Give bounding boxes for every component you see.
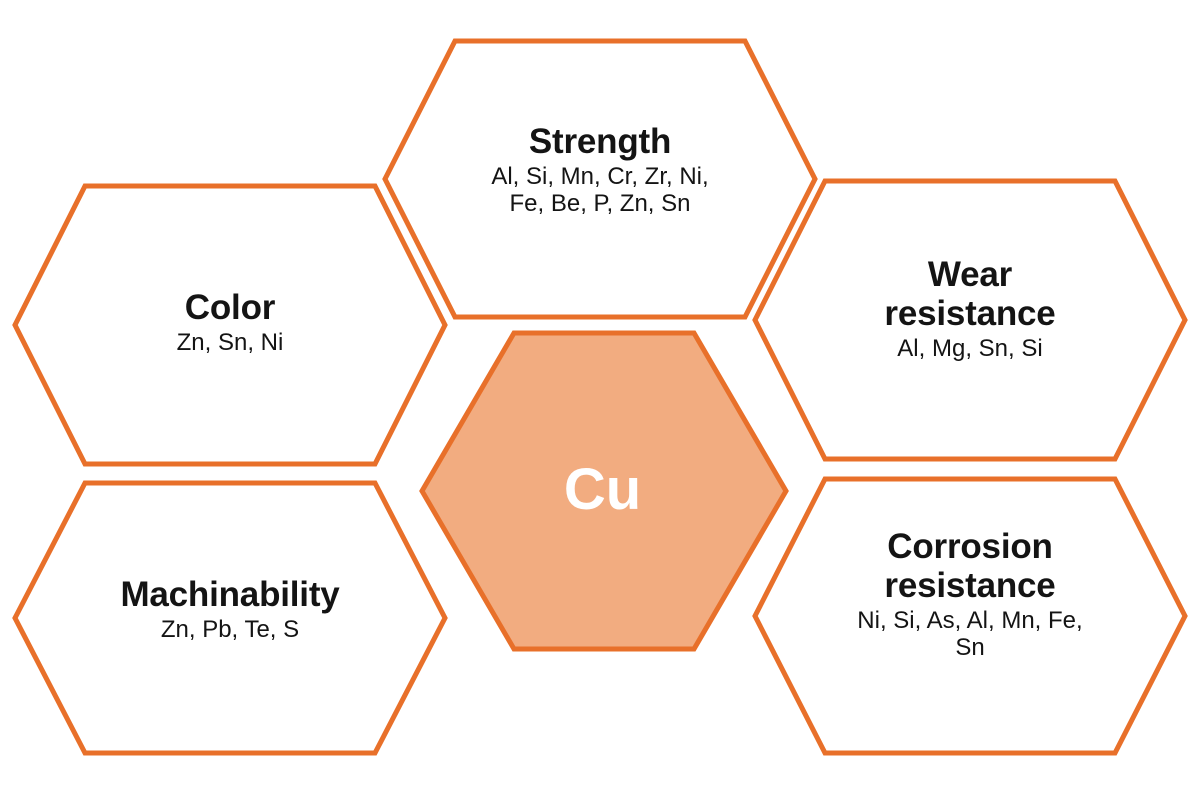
hexagon-shape-color[interactable] [15,186,445,464]
hexagon-shape-center-cu[interactable] [422,333,786,649]
hexagon-shape-corrosion-resistance[interactable] [755,479,1185,753]
hexagon-shape-strength[interactable] [385,41,815,317]
hexagon-shape-machinability[interactable] [15,483,445,753]
hexagon-shapes-layer [0,0,1200,800]
hexagon-shape-wear-resistance[interactable] [755,181,1185,459]
hexagon-diagram: Strength Al, Si, Mn, Cr, Zr, Ni, Fe, Be,… [0,0,1200,800]
